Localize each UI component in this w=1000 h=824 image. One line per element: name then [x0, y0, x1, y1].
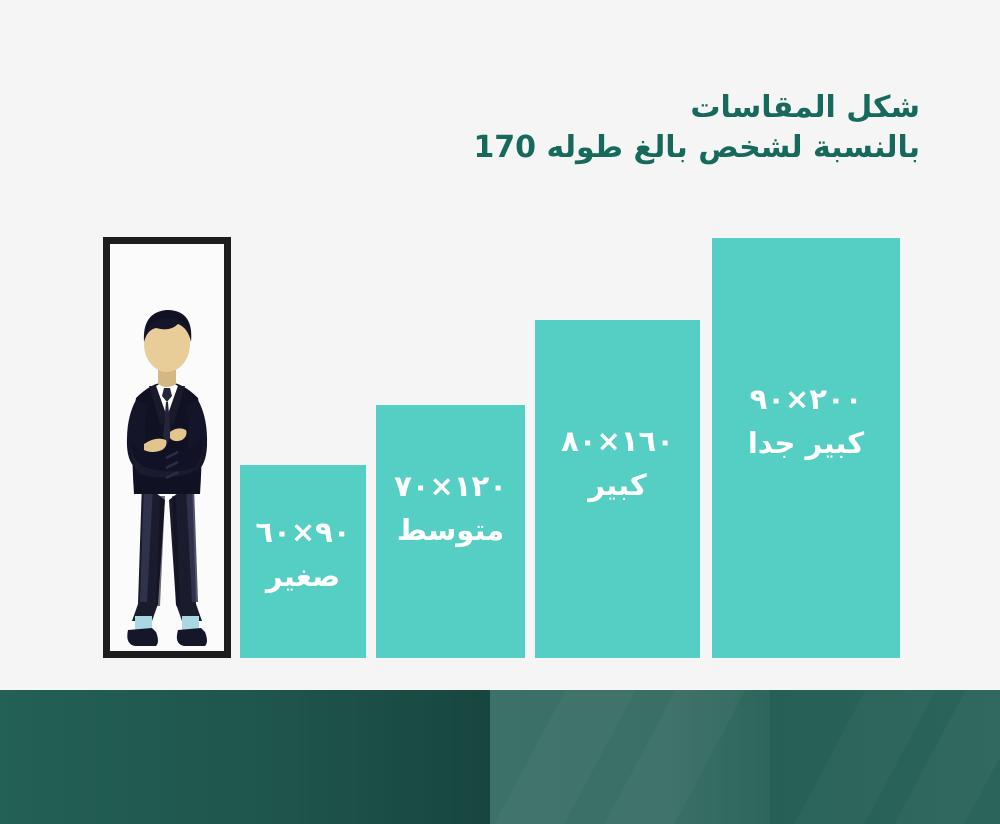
bar-medium-category: متوسط — [376, 509, 525, 553]
reference-person-frame — [103, 237, 231, 658]
bottom-color-band — [0, 690, 1000, 824]
bar-large-labels: ١٦٠×٨٠ كبير — [535, 320, 700, 507]
poster-canvas: شكل المقاسات بالنسبة لشخص بالغ طوله 170 — [0, 0, 1000, 824]
person-illustration-icon — [108, 286, 226, 651]
bar-small-labels: ٩٠×٦٠ صغير — [240, 465, 366, 598]
bar-medium-labels: ١٢٠×٧٠ متوسط — [376, 405, 525, 552]
bar-medium-size: ١٢٠×٧٠ — [376, 465, 525, 509]
bar-medium[interactable]: ١٢٠×٧٠ متوسط — [376, 405, 525, 658]
bar-extra-large[interactable]: ٢٠٠×٩٠ كبير جدا — [712, 238, 900, 658]
band-segment-2 — [290, 690, 490, 824]
band-segment-1 — [0, 690, 290, 824]
bar-chart: ٩٠×٦٠ صغير ١٢٠×٧٠ متوسط ١٦٠×٨٠ كبير ٢٠٠×… — [0, 0, 1000, 690]
bar-large[interactable]: ١٦٠×٨٠ كبير — [535, 320, 700, 658]
bar-small-size: ٩٠×٦٠ — [240, 511, 366, 555]
bar-extra-large-size: ٢٠٠×٩٠ — [712, 378, 900, 422]
bar-extra-large-labels: ٢٠٠×٩٠ كبير جدا — [712, 238, 900, 465]
bar-small-category: صغير — [240, 555, 366, 599]
bar-large-category: كبير — [535, 464, 700, 508]
bar-small[interactable]: ٩٠×٦٠ صغير — [240, 465, 366, 658]
bar-extra-large-category: كبير جدا — [712, 422, 900, 466]
bar-large-size: ١٦٠×٨٠ — [535, 420, 700, 464]
